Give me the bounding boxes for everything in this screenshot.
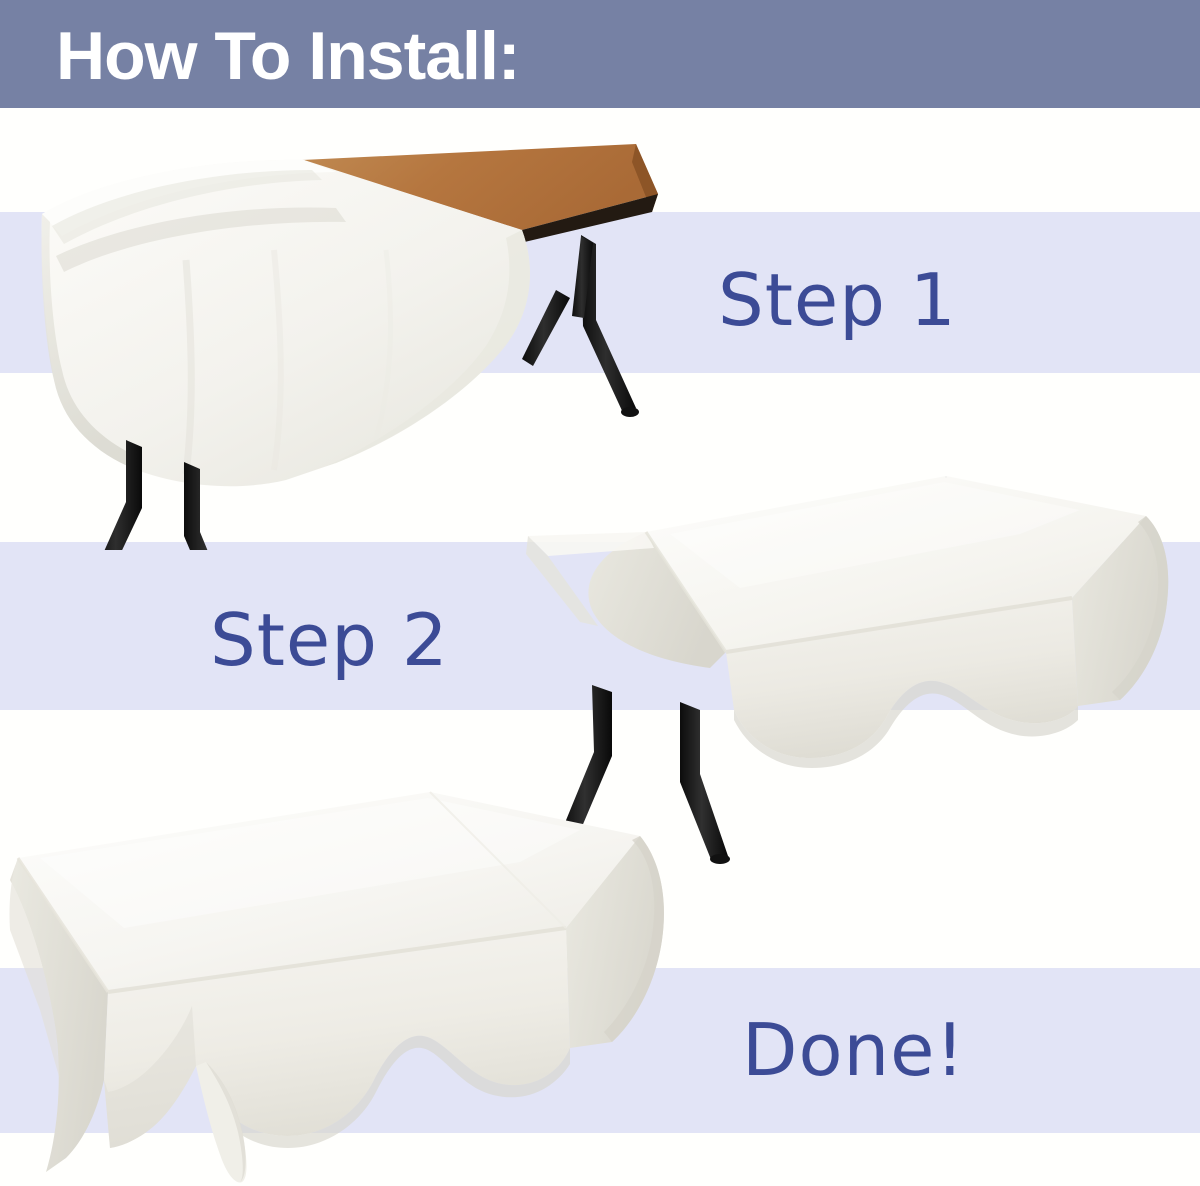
table-leg-mid-right [522,290,570,366]
step-label-done: Done! [742,1008,965,1092]
table-foot-left-back [710,854,730,864]
page-title: How To Install: [56,17,520,95]
table-foot-back-right [621,407,639,417]
install-instructions-page: How To Install: [0,0,1200,1186]
step-label-step-2: Step 2 [210,598,449,682]
header-bar: How To Install: [0,0,1200,108]
illustration-done [0,780,680,1186]
table-leg-left-back [680,702,728,862]
step-label-step-1: Step 1 [718,258,957,342]
